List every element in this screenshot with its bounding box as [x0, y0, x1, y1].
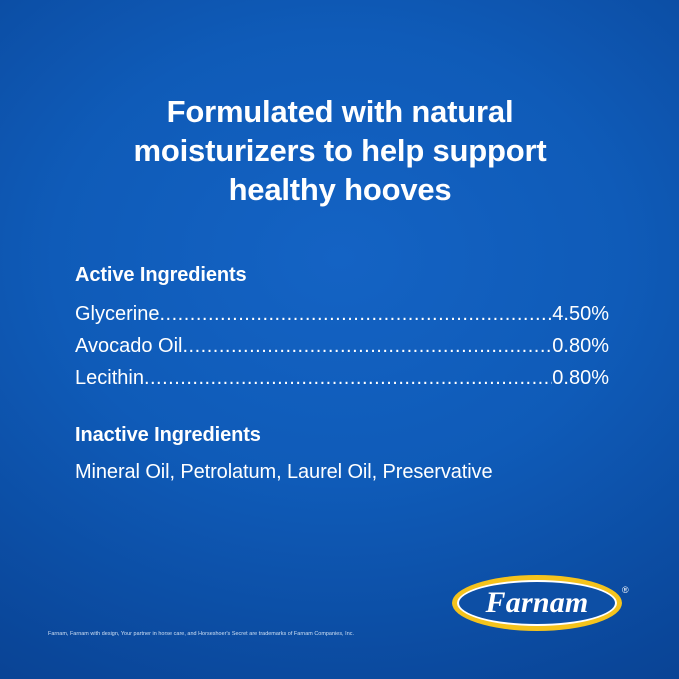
- ingredient-row: Lecithin ...............................…: [75, 362, 609, 394]
- active-ingredients-title: Active Ingredients: [75, 262, 609, 288]
- ingredient-name: Lecithin: [75, 362, 144, 394]
- ingredient-name: Glycerine: [75, 298, 159, 330]
- headline-line-1: Formulated with natural: [70, 92, 610, 131]
- leader-dots: ........................................…: [182, 330, 552, 362]
- headline-line-3: healthy hooves: [70, 170, 610, 209]
- registered-trademark-icon: ®: [622, 585, 629, 595]
- farnam-logo: Farnam ®: [452, 575, 630, 633]
- headline-line-2: moisturizers to help support: [70, 131, 610, 170]
- ingredient-row: Glycerine ..............................…: [75, 298, 609, 330]
- ingredient-row: Avocado Oil ............................…: [75, 330, 609, 362]
- ingredient-value: 0.80%: [552, 330, 609, 362]
- ingredient-value: 4.50%: [552, 298, 609, 330]
- inactive-ingredients-list: Mineral Oil, Petrolatum, Laurel Oil, Pre…: [75, 458, 609, 486]
- leader-dots: ........................................…: [144, 362, 552, 394]
- active-ingredients-section: Active Ingredients Glycerine ...........…: [75, 262, 609, 394]
- headline: Formulated with natural moisturizers to …: [70, 92, 610, 209]
- logo-wordmark: Farnam: [457, 580, 617, 626]
- legal-disclaimer: Farnam, Farnam with design, Your partner…: [48, 630, 488, 639]
- inactive-ingredients-section: Inactive Ingredients Mineral Oil, Petrol…: [75, 422, 609, 486]
- inactive-ingredients-title: Inactive Ingredients: [75, 422, 609, 448]
- ingredient-value: 0.80%: [552, 362, 609, 394]
- product-info-panel: Formulated with natural moisturizers to …: [0, 0, 679, 679]
- leader-dots: ........................................…: [159, 298, 552, 330]
- ingredient-name: Avocado Oil: [75, 330, 182, 362]
